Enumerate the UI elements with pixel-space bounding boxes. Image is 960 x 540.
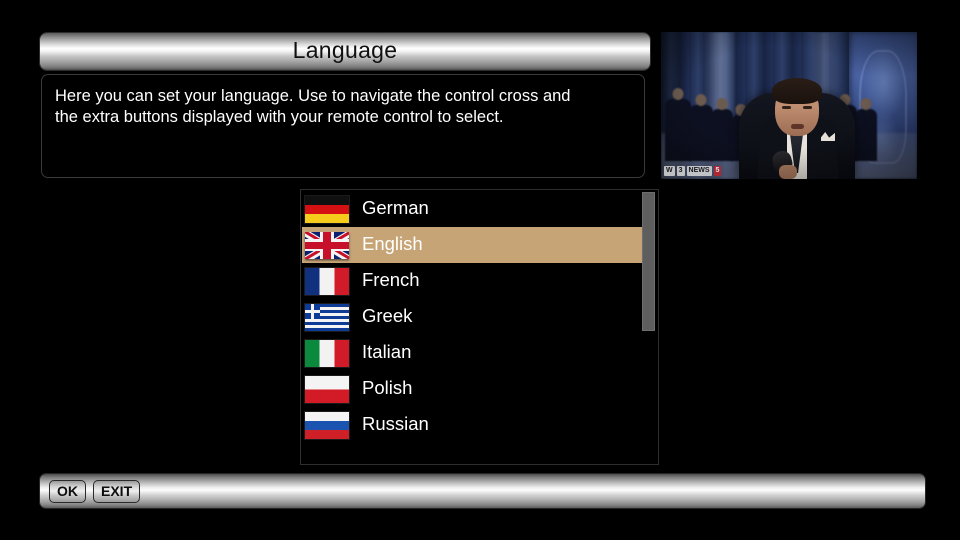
description-line-1: Here you can set your language. Use to n… xyxy=(55,86,631,107)
title-bar: Language xyxy=(40,33,650,70)
language-list: German English French xyxy=(302,191,643,443)
description-line-2: the extra buttons displayed with your re… xyxy=(55,107,631,128)
station-logo-part-4: 5 xyxy=(714,166,722,176)
list-item-label: Russian xyxy=(362,415,429,436)
list-item-label: Italian xyxy=(362,343,411,364)
flag-russian-icon xyxy=(305,412,349,439)
flag-english-icon xyxy=(305,232,349,259)
list-item[interactable]: Russian xyxy=(302,407,643,443)
list-item[interactable]: English xyxy=(302,227,643,263)
flag-german-icon xyxy=(305,196,349,223)
video-vignette xyxy=(661,32,917,179)
station-logo-part-3: NEWS xyxy=(687,166,712,176)
description-panel: Here you can set your language. Use to n… xyxy=(41,74,645,178)
list-item[interactable]: Italian xyxy=(302,335,643,371)
list-item-label: German xyxy=(362,199,429,220)
list-item-label: English xyxy=(362,235,423,256)
list-item[interactable]: German xyxy=(302,191,643,227)
page-title: Language xyxy=(293,39,398,64)
list-item[interactable]: French xyxy=(302,263,643,299)
softkey-bar: OK EXIT xyxy=(40,474,925,508)
ok-button[interactable]: OK xyxy=(49,480,86,503)
flag-polish-icon xyxy=(305,376,349,403)
station-logo-part-1: W xyxy=(664,166,675,176)
exit-button[interactable]: EXIT xyxy=(93,480,140,503)
video-preview[interactable]: W 3 NEWS 5 xyxy=(661,32,917,179)
flag-italian-icon xyxy=(305,340,349,367)
scrollbar-track[interactable] xyxy=(642,192,655,464)
station-logo: W 3 NEWS 5 xyxy=(664,165,721,177)
list-item-label: French xyxy=(362,271,420,292)
flag-french-icon xyxy=(305,268,349,295)
list-item-label: Greek xyxy=(362,307,412,328)
station-logo-part-2: 3 xyxy=(677,166,685,176)
list-item[interactable]: Polish xyxy=(302,371,643,407)
flag-greek-icon xyxy=(305,304,349,331)
list-item-label: Polish xyxy=(362,379,412,400)
scrollbar-thumb[interactable] xyxy=(642,192,655,331)
list-item[interactable]: Greek xyxy=(302,299,643,335)
language-list-panel: German English French xyxy=(300,189,659,465)
tv-osd-screen: Language Here you can set your language.… xyxy=(0,0,960,540)
